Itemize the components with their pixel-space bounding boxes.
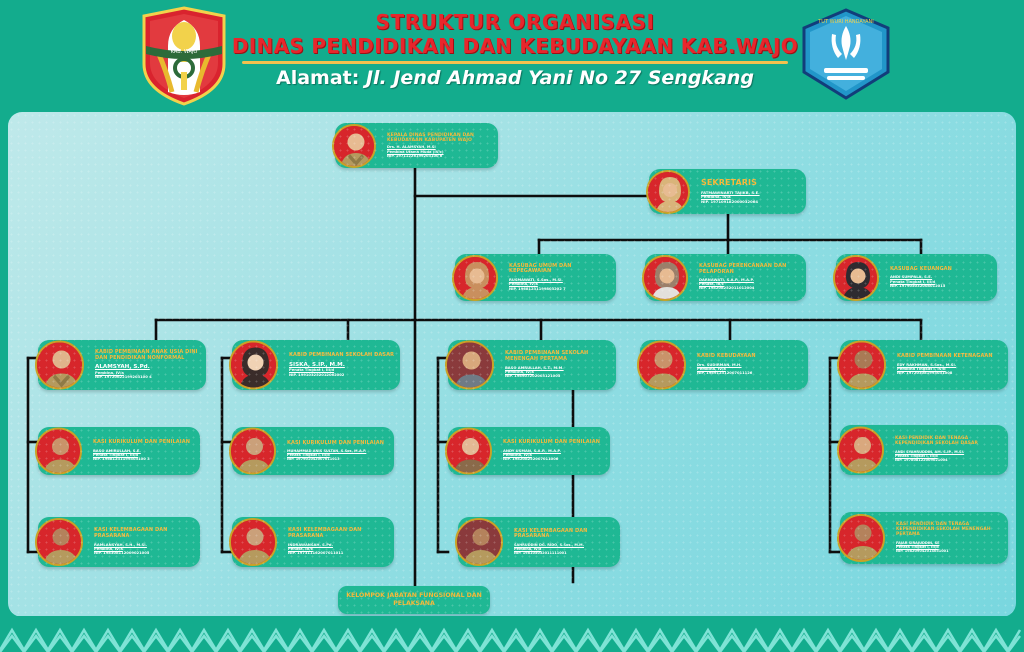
node-title: KEPALA DINAS PENDIDIKAN DAN KEBUDAYAAN K… — [387, 133, 494, 143]
functional-group-label: KELOMPOK JABATAN FUNGSIONAL DAN PELAKSAN… — [346, 592, 482, 608]
node-kasi-ptk-sd[interactable]: KASI PENDIDIK DAN TENAGA KEPENDIDIKAN SE… — [840, 425, 1008, 475]
node-nip: NIP. 198105032011111001 — [514, 551, 617, 555]
node-title: KASI KELEMBAGAAN DAN PRASARANA — [288, 528, 391, 539]
avatar — [229, 518, 277, 566]
title-line-2: DINAS PENDIDIKAN DAN KEBUDAYAAN KAB.WAJO — [230, 34, 800, 58]
node-title: SEKRETARIS — [701, 179, 802, 188]
node-kasubag-perencanaan-pelaporan[interactable]: KASUBAG PERENCANAAN DAN PELAPORAN DARNAW… — [645, 254, 806, 301]
address-label: Alamat: — [276, 67, 359, 89]
node-kabid-smp[interactable]: KABID PEMBINAAN SEKOLAH MENENGAH PERTAMA… — [448, 340, 616, 390]
node-text: KASI KURIKULUM DAN PENILAIAN MUHAMMAD AN… — [281, 441, 390, 462]
address-line: Alamat: Jl. Jend Ahmad Yani No 27 Sengka… — [230, 66, 800, 90]
node-title: KASI PENDIDIK DAN TENAGA KEPENDIDIKAN SE… — [896, 523, 1005, 538]
node-kasi-kurikulum-smp[interactable]: KASI KURIKULUM DAN PENILAIAN ANDY USMAN,… — [448, 427, 610, 475]
title-divider — [242, 61, 788, 64]
node-text: KEPALA DINAS PENDIDIKAN DAN KEBUDAYAAN K… — [381, 133, 494, 158]
title-line-1: STRUKTUR ORGANISASI — [230, 10, 800, 34]
address-value: Jl. Jend Ahmad Yani No 27 Sengkang — [366, 67, 754, 89]
avatar — [637, 341, 686, 390]
node-title: KASUBAG PERENCANAAN DAN PELAPORAN — [699, 264, 802, 275]
chart-canvas: KEPALA DINAS PENDIDIKAN DAN KEBUDAYAAN K… — [8, 112, 1016, 617]
node-kepala-dinas[interactable]: KEPALA DINAS PENDIDIKAN DAN KEBUDAYAAN K… — [335, 123, 498, 168]
node-nip: NIP. 197109182000032064 — [701, 200, 802, 204]
node-nip: NIP. 196907202003121005 — [505, 374, 612, 378]
node-text: KASUBAG PERENCANAAN DAN PELAPORAN DARNAW… — [693, 264, 802, 290]
node-kasubag-keuangan[interactable]: KASUBAG KEUANGAN ANDI SUMPALA, S.E. Pena… — [836, 254, 997, 301]
node-text: KASI PENDIDIK DAN TENAGA KEPENDIDIKAN SE… — [889, 437, 1004, 462]
node-nip: NIP. 196912312007011126 — [697, 371, 804, 375]
node-text: KABID PEMBINAAN SEKOLAH DASAR SISKA, S.I… — [283, 353, 396, 377]
node-nip: NIP. 197808122009021004 — [895, 458, 1004, 462]
node-kabid-ketenagaan[interactable]: KABID PEMBINAAN KETENAGAAN EDY RAKHMAN, … — [840, 340, 1008, 390]
avatar — [445, 428, 492, 475]
page-header: KAB. WAJO STRUKTUR ORGANISASI DINAS PEND… — [0, 0, 1024, 112]
node-title: KABID PEMBINAAN KETENAGAAN — [897, 354, 1004, 360]
avatar — [833, 255, 879, 301]
avatar — [445, 341, 494, 390]
node-nip: NIP. 198209042014051001 — [896, 549, 1005, 553]
node-text: KASI KURIKULUM DAN PENILAIAN ANDY USMAN,… — [497, 440, 606, 462]
node-text: KABID PEMBINAAN SEKOLAH MENENGAH PERTAMA… — [499, 351, 612, 378]
avatar — [455, 518, 503, 566]
node-title: KABID PEMBINAAN SEKOLAH DASAR — [289, 353, 396, 359]
avatar — [35, 341, 84, 390]
org-chart-page: KAB. WAJO STRUKTUR ORGANISASI DINAS PEND… — [0, 0, 1024, 652]
node-text: KABID KEBUDAYAAN Drs. SUDIRMAN, M.H. Pem… — [691, 354, 804, 376]
avatar — [452, 255, 498, 301]
node-title: KABID KEBUDAYAAN — [697, 354, 804, 360]
node-title: KASI KURIKULUM DAN PENILAIAN — [93, 440, 196, 446]
node-kasubag-umum-kepegawaian[interactable]: KASUBAG UMUM DAN KEPEGAWAIAN RUSMAWATI, … — [455, 254, 616, 301]
tut-wuri-handayani-logo-icon: TUT WURI HANDAYANI — [800, 8, 892, 100]
node-kasi-kurikulum-sd[interactable]: KASI KURIKULUM DAN PENILAIAN MUHAMMAD AN… — [232, 427, 394, 475]
node-text: KASI KURIKULUM DAN PENILAIAN BASO AMIRUL… — [87, 440, 196, 462]
avatar — [646, 170, 690, 214]
svg-text:TUT WURI HANDAYANI: TUT WURI HANDAYANI — [817, 19, 874, 25]
node-kasi-kelembagaan-smp[interactable]: KASI KELEMBAGAAN DAN PRASARANA SAHRUDDIN… — [458, 517, 620, 567]
node-kasi-kurikulum-paud[interactable]: KASI KURIKULUM DAN PENILAIAN BASO AMIRUL… — [38, 427, 200, 475]
wajo-regency-crest-icon: KAB. WAJO — [138, 6, 230, 106]
node-kabid-sekolah-dasar[interactable]: KABID PEMBINAAN SEKOLAH DASAR SISKA, S.I… — [232, 340, 400, 390]
node-title: KASI KURIKULUM DAN PENILAIAN — [503, 440, 606, 446]
node-text: KASUBAG KEUANGAN ANDI SUMPALA, S.E. Pena… — [884, 267, 993, 289]
node-text: SEKRETARIS FATMAWINARTI TAJIKB, S.E. Pem… — [695, 179, 802, 204]
node-nip: NIP. 197905032008012015 — [890, 284, 993, 288]
node-nip: NIP. 197901042007011013 — [287, 457, 390, 461]
node-title: KASI PENDIDIK DAN TENAGA KEPENDIDIKAN SE… — [895, 437, 1004, 447]
avatar — [332, 124, 376, 168]
node-nip: NIP. 19720622199203100 4 — [95, 375, 202, 379]
avatar — [837, 514, 885, 562]
node-kasi-kelembagaan-paud[interactable]: KASI KELEMBAGAAN DAN PRASARANA RAMLANSYA… — [38, 517, 200, 567]
node-text: KASI KELEMBAGAAN DAN PRASARANA RAMLANSYA… — [88, 528, 197, 555]
node-text: KABID PEMBINAAN KETENAGAAN EDY RAKHMAN, … — [891, 354, 1004, 376]
node-title: KASUBAG KEUANGAN — [890, 267, 993, 273]
node-text: KASI PENDIDIK DAN TENAGA KEPENDIDIKAN SE… — [890, 523, 1005, 553]
node-kasi-ptk-smp[interactable]: KASI PENDIDIK DAN TENAGA KEPENDIDIKAN SE… — [840, 512, 1008, 564]
node-sekretaris[interactable]: SEKRETARIS FATMAWINARTI TAJIKB, S.E. Pem… — [649, 169, 806, 214]
node-title: KASI KELEMBAGAAN DAN PRASARANA — [94, 528, 197, 539]
node-kasi-kelembagaan-sd[interactable]: KASI KELEMBAGAAN DAN PRASARANA INDRAWANS… — [232, 517, 394, 567]
node-nip: NIP. 19711226199203100 6 — [387, 154, 494, 158]
node-nip: NIP. 198208252011012004 — [699, 286, 802, 290]
node-nip: NIP. 198308112009021005 — [94, 551, 197, 555]
page-footer — [0, 616, 1024, 652]
node-text: KABID PEMBINAAN ANAK USIA DINI DAN PENDI… — [89, 350, 202, 380]
avatar — [229, 341, 278, 390]
node-nip: NIP. 197311162007011011 — [288, 551, 391, 555]
node-title: KASI KELEMBAGAAN DAN PRASARANA — [514, 529, 617, 540]
avatar — [837, 341, 886, 390]
svg-text:KAB. WAJO: KAB. WAJO — [171, 49, 198, 55]
node-nip: NIP. 199103252012062002 — [289, 373, 396, 377]
node-nip: NIP. 198208252007011006 — [503, 457, 606, 461]
avatar — [837, 427, 884, 474]
avatar — [35, 518, 83, 566]
zigzag-border-decoration — [0, 616, 1024, 652]
node-nip: NIP. 19681231199803202 7 — [509, 287, 612, 291]
node-text: KASI KELEMBAGAAN DAN PRASARANA SAHRUDDIN… — [508, 529, 617, 556]
node-name: SISKA, S.IP., M.M. — [289, 362, 396, 369]
header-titles: STRUKTUR ORGANISASI DINAS PENDIDIKAN DAN… — [230, 10, 800, 90]
node-text: KASI KELEMBAGAAN DAN PRASARANA INDRAWANS… — [282, 528, 391, 555]
node-kelompok-jabatan-fungsional[interactable]: KELOMPOK JABATAN FUNGSIONAL DAN PELAKSAN… — [338, 586, 490, 614]
avatar — [35, 428, 82, 475]
node-name: ALAMSYAH, S.Pd. — [95, 364, 202, 371]
node-title: KABID PEMBINAAN ANAK USIA DINI DAN PENDI… — [95, 350, 202, 361]
node-title: KABID PEMBINAAN SEKOLAH MENENGAH PERTAMA — [505, 351, 612, 362]
avatar — [229, 428, 276, 475]
node-nip: NIP. 19681231199303100 3 — [93, 457, 196, 461]
avatar — [642, 255, 688, 301]
node-nip: NIP. 197203081993031008 — [897, 371, 1004, 375]
node-title: KASI KURIKULUM DAN PENILAIAN — [287, 441, 390, 447]
node-kabid-paud-nonformal[interactable]: KABID PEMBINAAN ANAK USIA DINI DAN PENDI… — [38, 340, 206, 390]
node-title: KASUBAG UMUM DAN KEPEGAWAIAN — [509, 264, 612, 275]
node-text: KASUBAG UMUM DAN KEPEGAWAIAN RUSMAWATI, … — [503, 264, 612, 291]
node-kabid-kebudayaan[interactable]: KABID KEBUDAYAAN Drs. SUDIRMAN, M.H. Pem… — [640, 340, 808, 390]
